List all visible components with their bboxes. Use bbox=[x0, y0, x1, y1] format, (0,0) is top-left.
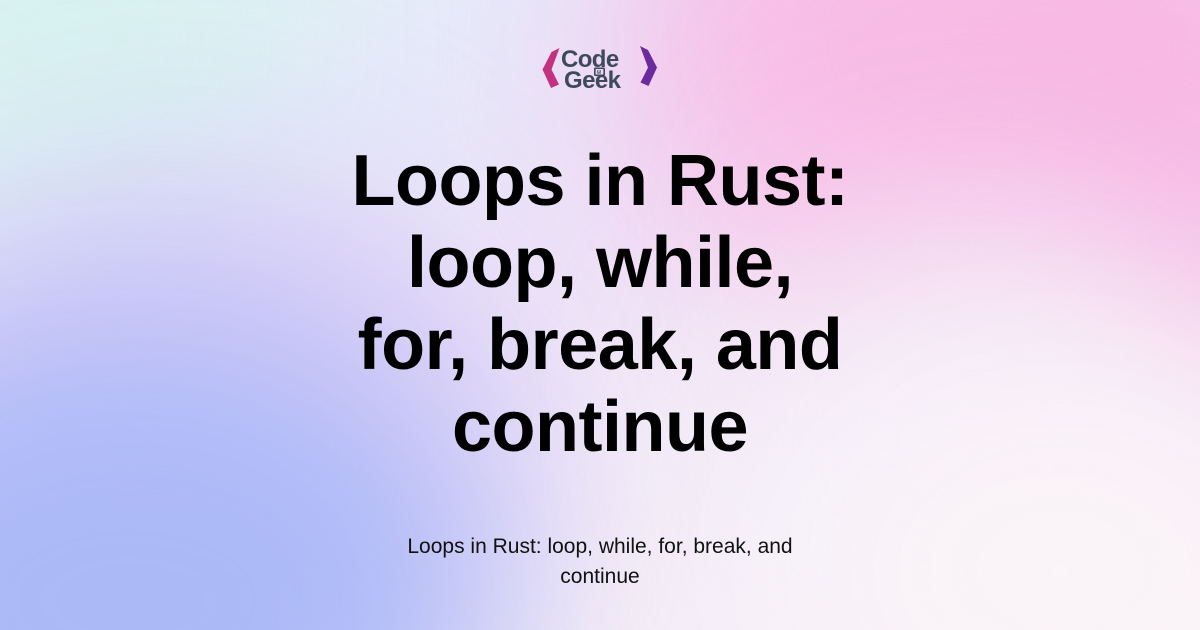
page-subtitle: Loops in Rust: loop, while, for, break, … bbox=[375, 532, 825, 592]
logo-word-geek: Geek bbox=[564, 67, 622, 94]
og-card: Code Geek Loops in Rust: loop, while, fo… bbox=[0, 0, 1200, 630]
codegeek-logo[interactable]: Code Geek bbox=[538, 42, 662, 94]
right-bracket-icon bbox=[640, 46, 657, 86]
codegeek-logo-icon: Code Geek bbox=[538, 42, 662, 94]
logo-center-emblem-icon bbox=[594, 68, 605, 77]
card-content: Code Geek Loops in Rust: loop, while, fo… bbox=[0, 0, 1200, 630]
page-title: Loops in Rust: loop, while, for, break, … bbox=[350, 140, 850, 468]
title-container: Loops in Rust: loop, while, for, break, … bbox=[100, 140, 1100, 468]
left-bracket-icon bbox=[543, 48, 560, 88]
subtitle-container: Loops in Rust: loop, while, for, break, … bbox=[100, 532, 1100, 592]
